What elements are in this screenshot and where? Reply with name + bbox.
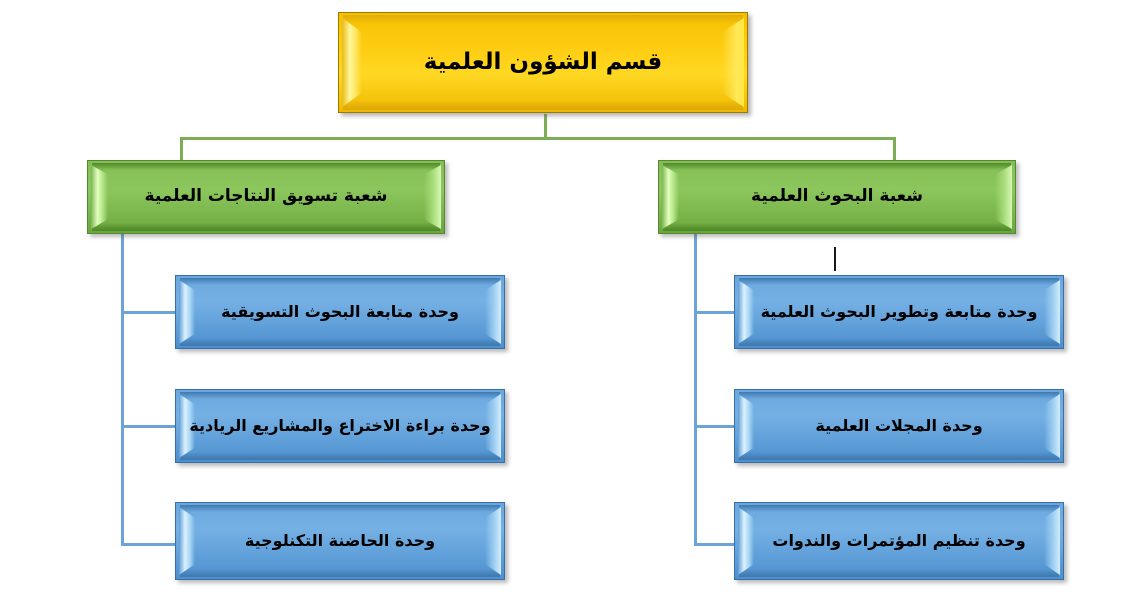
- node-unit-marketing-research-followup[interactable]: وحدة متابعة البحوث التسويقية: [175, 275, 505, 349]
- bevel-top: [739, 392, 1059, 399]
- node-unit-label: وحدة متابعة وتطوير البحوث العلمية: [741, 302, 1057, 322]
- bevel-right: [485, 280, 501, 344]
- connector-spine-right: [694, 233, 697, 546]
- bevel-left: [738, 507, 754, 575]
- bevel-left: [179, 507, 195, 575]
- node-division-research-label: شعبة البحوث العلمية: [730, 186, 945, 207]
- bevel-right: [485, 507, 501, 575]
- connector-tick-right-division: [834, 247, 836, 271]
- node-root-department[interactable]: قسم الشؤون العلمية: [338, 12, 748, 113]
- node-unit-patent-entrepreneurial[interactable]: وحدة براءة الاختراع والمشاريع الريادية: [175, 389, 505, 463]
- bevel-top: [343, 15, 743, 24]
- bevel-bottom: [180, 338, 500, 346]
- connector-root-stem: [544, 114, 547, 139]
- bevel-top: [739, 505, 1059, 512]
- bevel-top: [92, 163, 440, 170]
- bevel-bottom: [92, 223, 440, 231]
- connector-stub-left-2: [121, 425, 177, 428]
- bevel-left: [179, 280, 195, 344]
- bevel-top: [180, 505, 500, 512]
- bevel-top: [180, 278, 500, 285]
- bevel-left: [91, 165, 108, 229]
- node-unit-label: وحدة الحاضنة التكنلوجية: [225, 531, 455, 551]
- node-unit-technology-incubator[interactable]: وحدة الحاضنة التكنلوجية: [175, 502, 505, 580]
- node-unit-label: وحدة براءة الاختراع والمشاريع الريادية: [170, 416, 511, 436]
- bevel-top: [180, 392, 500, 399]
- bevel-bottom: [180, 452, 500, 460]
- node-division-research[interactable]: شعبة البحوث العلمية: [658, 160, 1016, 234]
- bevel-left: [662, 165, 679, 229]
- node-division-marketing-label: شعبة تسويق النتاجات العلمية: [123, 186, 409, 207]
- node-root-label: قسم الشؤون العلمية: [399, 48, 686, 77]
- bevel-left: [342, 18, 362, 107]
- bevel-top: [739, 278, 1059, 285]
- connector-root-bus: [180, 137, 896, 140]
- node-unit-label: وحدة متابعة البحوث التسويقية: [201, 302, 478, 322]
- bevel-right: [1044, 507, 1060, 575]
- node-unit-research-followup-development[interactable]: وحدة متابعة وتطوير البحوث العلمية: [734, 275, 1064, 349]
- connector-stub-right-1: [694, 311, 736, 314]
- bevel-bottom: [180, 569, 500, 577]
- bevel-top: [663, 163, 1011, 170]
- bevel-right: [1044, 394, 1060, 458]
- node-unit-scientific-journals[interactable]: وحدة المجلات العلمية: [734, 389, 1064, 463]
- bevel-bottom: [739, 569, 1059, 577]
- node-unit-label: وحدة المجلات العلمية: [796, 416, 1003, 436]
- node-unit-conferences-seminars[interactable]: وحدة تنظيم المؤتمرات والندوات: [734, 502, 1064, 580]
- bevel-bottom: [343, 100, 743, 110]
- bevel-bottom: [739, 452, 1059, 460]
- connector-spine-left: [121, 233, 124, 546]
- bevel-left: [738, 394, 754, 458]
- node-unit-label: وحدة تنظيم المؤتمرات والندوات: [753, 531, 1046, 551]
- node-division-marketing[interactable]: شعبة تسويق النتاجات العلمية: [87, 160, 445, 234]
- org-chart-canvas: قسم الشؤون العلمية شعبة تسويق النتاجات ا…: [0, 0, 1137, 611]
- connector-stub-left-1: [121, 311, 177, 314]
- connector-stub-right-3: [694, 543, 736, 546]
- bevel-bottom: [663, 223, 1011, 231]
- bevel-bottom: [739, 338, 1059, 346]
- connector-stub-right-2: [694, 425, 736, 428]
- bevel-right: [722, 18, 744, 107]
- connector-drop-left-division: [180, 137, 183, 162]
- bevel-right: [995, 165, 1012, 229]
- bevel-right: [424, 165, 441, 229]
- connector-stub-left-3: [121, 543, 177, 546]
- connector-drop-right-division: [893, 137, 896, 162]
